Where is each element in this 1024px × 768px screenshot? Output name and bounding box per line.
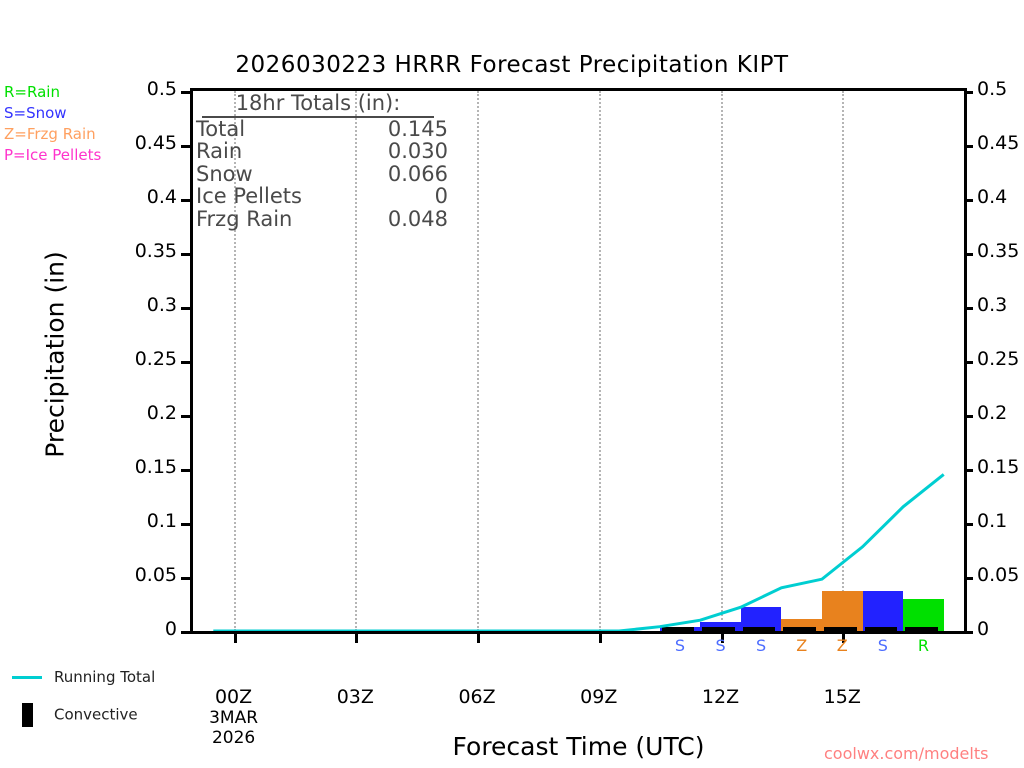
y-label-right-0.15: 0.15 [977, 456, 1019, 478]
totals-rows: Total0.145Rain0.030Snow0.066Ice Pellets0… [196, 118, 448, 231]
totals-row: Rain0.030 [196, 140, 448, 163]
y-tick-right-0.25 [964, 361, 973, 364]
y-axis-title: Precipitation (in) [41, 190, 70, 520]
x-label-text: 12Z [661, 686, 781, 708]
x-tick-06Z [477, 634, 480, 643]
ptype-letter-13: S [741, 636, 781, 655]
x-label-text: 09Z [539, 686, 659, 708]
page-title: 2026030223 HRRR Forecast Precipitation K… [0, 52, 1024, 78]
line-swatch-icon [12, 676, 42, 679]
totals-row: Snow0.066 [196, 163, 448, 186]
x-tick-03Z [355, 634, 358, 643]
x-label-06Z: 06Z [417, 686, 537, 708]
legend-label-snow: S=Snow [4, 104, 67, 122]
y-tick-right-0.15 [964, 469, 973, 472]
ptype-letter-15: Z [822, 636, 862, 655]
y-label-right-0.45: 0.45 [977, 132, 1019, 154]
y-tick-right-0.05 [964, 577, 973, 580]
legend-label-rain: R=Rain [4, 83, 60, 101]
ptype-letter-16: S [863, 636, 903, 655]
x-label-text: 00Z [174, 686, 294, 708]
totals-label: Frzg Rain [196, 208, 292, 231]
y-tick-left-0.4 [181, 199, 190, 202]
watermark: coolwx.com/modelts [824, 744, 988, 763]
x-label-12Z: 12Z [661, 686, 781, 708]
totals-row: Ice Pellets0 [196, 185, 448, 208]
legend-running-total: Running Total [12, 668, 155, 686]
totals-value: 0.030 [388, 140, 448, 163]
x-label-09Z: 09Z [539, 686, 659, 708]
y-tick-left-0.3 [181, 307, 190, 310]
y-tick-left-0.2 [181, 415, 190, 418]
legend-item-frzg-rain: Z=Frzg Rain [4, 124, 101, 145]
totals-value: 0 [435, 185, 448, 208]
totals-heading: 18hr Totals (in): [202, 92, 434, 118]
totals-value: 0.048 [388, 208, 448, 231]
x-tick-09Z [599, 634, 602, 643]
y-label-left-0.5: 0.5 [147, 78, 177, 100]
totals-value: 0.145 [388, 118, 448, 141]
precip-type-legend: R=Rain S=Snow Z=Frzg Rain P=Ice Pellets [4, 82, 101, 166]
box-swatch-icon [22, 703, 33, 727]
y-label-left-0.35: 0.35 [135, 240, 177, 262]
legend-convective-label: Convective [54, 706, 138, 724]
y-label-left-0.45: 0.45 [135, 132, 177, 154]
totals-label: Total [196, 118, 245, 141]
ptype-letter-17: R [903, 636, 943, 655]
x-label-sub-0: 3MAR [174, 708, 294, 728]
totals-label: Snow [196, 163, 253, 186]
legend-running-total-label: Running Total [54, 668, 155, 686]
legend-item-rain: R=Rain [4, 82, 101, 103]
y-tick-right-0.3 [964, 307, 973, 310]
y-label-right-0.35: 0.35 [977, 240, 1019, 262]
x-label-text: 03Z [295, 686, 415, 708]
y-tick-right-0.35 [964, 253, 973, 256]
y-label-left-0.3: 0.3 [147, 294, 177, 316]
x-label-03Z: 03Z [295, 686, 415, 708]
y-label-left-0.1: 0.1 [147, 510, 177, 532]
legend-convective: Convective [12, 703, 138, 727]
legend-label-ice-pellets: P=Ice Pellets [4, 146, 101, 164]
y-tick-right-0.4 [964, 199, 973, 202]
x-label-15Z: 15Z [782, 686, 902, 708]
totals-label: Rain [196, 140, 242, 163]
y-label-right-0.2: 0.2 [977, 402, 1007, 424]
totals-value: 0.066 [388, 163, 448, 186]
ptype-letter-12: S [701, 636, 741, 655]
legend-item-snow: S=Snow [4, 103, 101, 124]
y-tick-left-0.15 [181, 469, 190, 472]
y-label-right-0.4: 0.4 [977, 186, 1007, 208]
y-tick-left-0.25 [181, 361, 190, 364]
y-tick-left-0.05 [181, 577, 190, 580]
y-label-right-0.1: 0.1 [977, 510, 1007, 532]
y-tick-left-0 [181, 631, 190, 634]
legend-label-frzg-rain: Z=Frzg Rain [4, 125, 96, 143]
ptype-letter-14: Z [782, 636, 822, 655]
totals-row: Frzg Rain0.048 [196, 208, 448, 231]
y-label-right-0.3: 0.3 [977, 294, 1007, 316]
y-tick-right-0.45 [964, 145, 973, 148]
y-tick-left-0.45 [181, 145, 190, 148]
totals-label: Ice Pellets [196, 185, 302, 208]
y-label-left-0.25: 0.25 [135, 348, 177, 370]
x-tick-00Z [234, 634, 237, 643]
y-tick-left-0.1 [181, 523, 190, 526]
y-tick-left-0.35 [181, 253, 190, 256]
x-label-text: 15Z [782, 686, 902, 708]
y-label-left-0.15: 0.15 [135, 456, 177, 478]
x-label-text: 06Z [417, 686, 537, 708]
legend-item-ice-pellets: P=Ice Pellets [4, 145, 101, 166]
y-tick-right-0 [964, 631, 973, 634]
y-label-left-0.2: 0.2 [147, 402, 177, 424]
y-label-right-0.25: 0.25 [977, 348, 1019, 370]
totals-row: Total0.145 [196, 118, 448, 141]
y-label-right-0: 0 [977, 618, 989, 640]
y-tick-right-0.2 [964, 415, 973, 418]
y-label-right-0.05: 0.05 [977, 564, 1019, 586]
y-tick-right-0.1 [964, 523, 973, 526]
y-label-left-0.05: 0.05 [135, 564, 177, 586]
y-label-right-0.5: 0.5 [977, 78, 1007, 100]
y-tick-right-0.5 [964, 91, 973, 94]
totals-box: 18hr Totals (in): Total0.145Rain0.030Sno… [196, 92, 448, 231]
y-label-left-0: 0 [165, 618, 177, 640]
ptype-letter-11: S [660, 636, 700, 655]
y-label-left-0.4: 0.4 [147, 186, 177, 208]
y-tick-left-0.5 [181, 91, 190, 94]
